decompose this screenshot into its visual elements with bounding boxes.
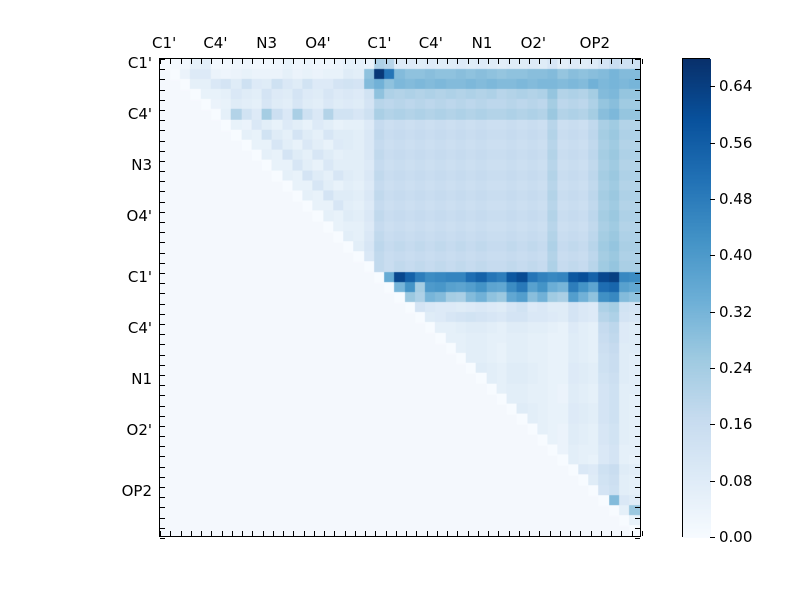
colorbar-tick-3	[710, 368, 715, 369]
x-tick-label-8: OP2	[580, 34, 610, 52]
colorbar-tick-label-4: 0.32	[719, 303, 752, 321]
heatmap-image[interactable]	[160, 59, 640, 536]
colorbar-tick-6	[710, 199, 715, 200]
x-tick-label-3: O4'	[305, 34, 330, 52]
figure-canvas: C1'C4'N3O4'C1'C4'N1O2'OP2 C1'C4'N3O4'C1'…	[0, 0, 800, 600]
colorbar-tick-2	[710, 424, 715, 425]
colorbar-tick-4	[710, 312, 715, 313]
x-tick-label-1: C4'	[203, 34, 227, 52]
y-tick-label-0: C1'	[0, 54, 152, 72]
y-tick-label-4: C1'	[0, 268, 152, 286]
x-tick-label-0: C1'	[152, 34, 176, 52]
colorbar-tick-label-8: 0.64	[719, 77, 752, 95]
x-tick-label-5: C4'	[419, 34, 443, 52]
colorbar-tick-7	[710, 143, 715, 144]
y-tick-label-6: N1	[0, 370, 152, 388]
colorbar-tick-label-2: 0.16	[719, 415, 752, 433]
colorbar-tick-label-0: 0.00	[719, 528, 752, 546]
x-tick-label-7: O2'	[521, 34, 546, 52]
colorbar[interactable]	[682, 58, 710, 537]
colorbar-tick-label-7: 0.56	[719, 134, 752, 152]
colorbar-tick-0	[710, 537, 715, 538]
heatmap-axes[interactable]	[159, 58, 641, 537]
colorbar-tick-5	[710, 255, 715, 256]
y-tick-label-3: O4'	[0, 207, 152, 225]
x-tick-label-2: N3	[256, 34, 277, 52]
colorbar-gradient	[683, 59, 711, 538]
y-tick-label-5: C4'	[0, 319, 152, 337]
y-tick-label-7: O2'	[0, 421, 152, 439]
y-tick-label-1: C4'	[0, 105, 152, 123]
colorbar-tick-1	[710, 481, 715, 482]
colorbar-tick-8	[710, 86, 715, 87]
colorbar-tick-label-5: 0.40	[719, 246, 752, 264]
y-tick-label-8: OP2	[0, 482, 152, 500]
colorbar-tick-label-3: 0.24	[719, 359, 752, 377]
x-tick-label-4: C1'	[367, 34, 391, 52]
y-tick-label-2: N3	[0, 156, 152, 174]
colorbar-tick-label-1: 0.08	[719, 472, 752, 490]
x-tick-label-6: N1	[472, 34, 493, 52]
colorbar-tick-label-6: 0.48	[719, 190, 752, 208]
